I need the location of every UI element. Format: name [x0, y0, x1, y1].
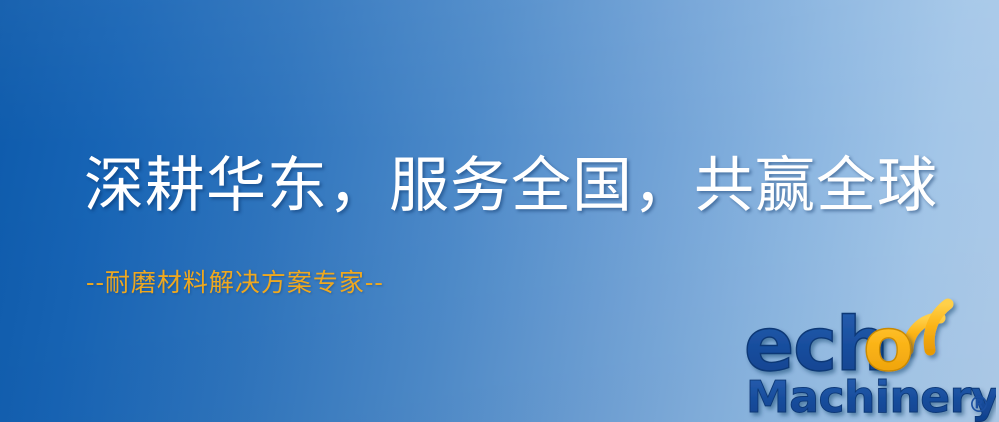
banner-subtitle: --耐磨材料解决方案专家-- — [86, 268, 384, 298]
svg-text:Machinery: Machinery — [746, 372, 996, 422]
banner-headline: 深耕华东，服务全国，共赢全球 — [84, 150, 938, 222]
registered-trademark-icon: ® — [968, 393, 990, 418]
echo-machinery-logo[interactable]: ech o Machinery ® — [744, 294, 996, 422]
echo-wave-icon — [908, 304, 948, 350]
logo-subbrand: Machinery ® — [746, 372, 996, 422]
hero-banner: 深耕华东，服务全国，共赢全球 --耐磨材料解决方案专家-- — [0, 0, 999, 422]
